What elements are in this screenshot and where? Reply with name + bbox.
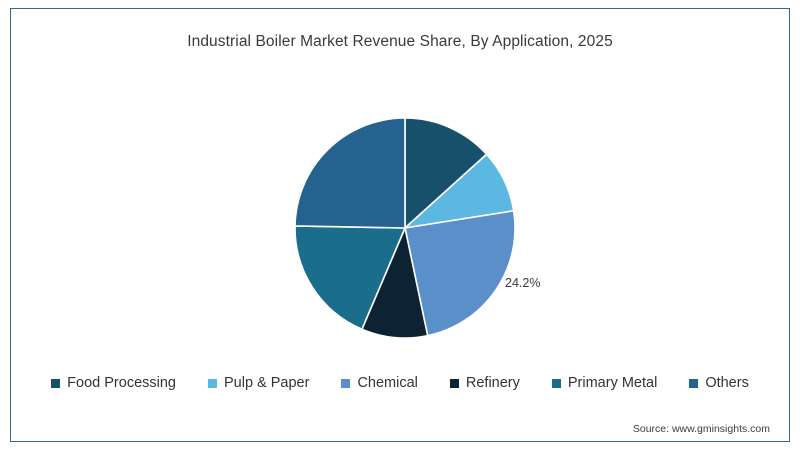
legend-item-label: Primary Metal bbox=[568, 376, 657, 391]
legend-swatch-icon bbox=[689, 379, 698, 388]
pie-chart-svg bbox=[285, 108, 525, 348]
legend-swatch-icon bbox=[450, 379, 459, 388]
pie-chart bbox=[285, 108, 525, 348]
legend-item[interactable]: Chemical bbox=[341, 376, 417, 391]
legend-item[interactable]: Pulp & Paper bbox=[208, 376, 309, 391]
legend-swatch-icon bbox=[208, 379, 217, 388]
chemical-percent-label: 24.2% bbox=[505, 276, 540, 290]
legend-item[interactable]: Refinery bbox=[450, 376, 520, 391]
legend-item[interactable]: Food Processing bbox=[51, 376, 176, 391]
legend-item-label: Others bbox=[705, 376, 749, 391]
legend-item-label: Refinery bbox=[466, 376, 520, 391]
legend-swatch-icon bbox=[552, 379, 561, 388]
pie-slice bbox=[295, 118, 405, 228]
legend-swatch-icon bbox=[341, 379, 350, 388]
legend-item[interactable]: Others bbox=[689, 376, 749, 391]
legend-item[interactable]: Primary Metal bbox=[552, 376, 657, 391]
legend-item-label: Food Processing bbox=[67, 376, 176, 391]
legend-item-label: Pulp & Paper bbox=[224, 376, 309, 391]
chart-legend: Food ProcessingPulp & PaperChemicalRefin… bbox=[0, 376, 800, 391]
legend-item-label: Chemical bbox=[357, 376, 417, 391]
pie-slice-group bbox=[295, 118, 515, 338]
chart-page: Industrial Boiler Market Revenue Share, … bbox=[0, 0, 800, 450]
legend-swatch-icon bbox=[51, 379, 60, 388]
source-attribution: Source: www.gminsights.com bbox=[633, 423, 770, 435]
page-title: Industrial Boiler Market Revenue Share, … bbox=[0, 33, 800, 51]
